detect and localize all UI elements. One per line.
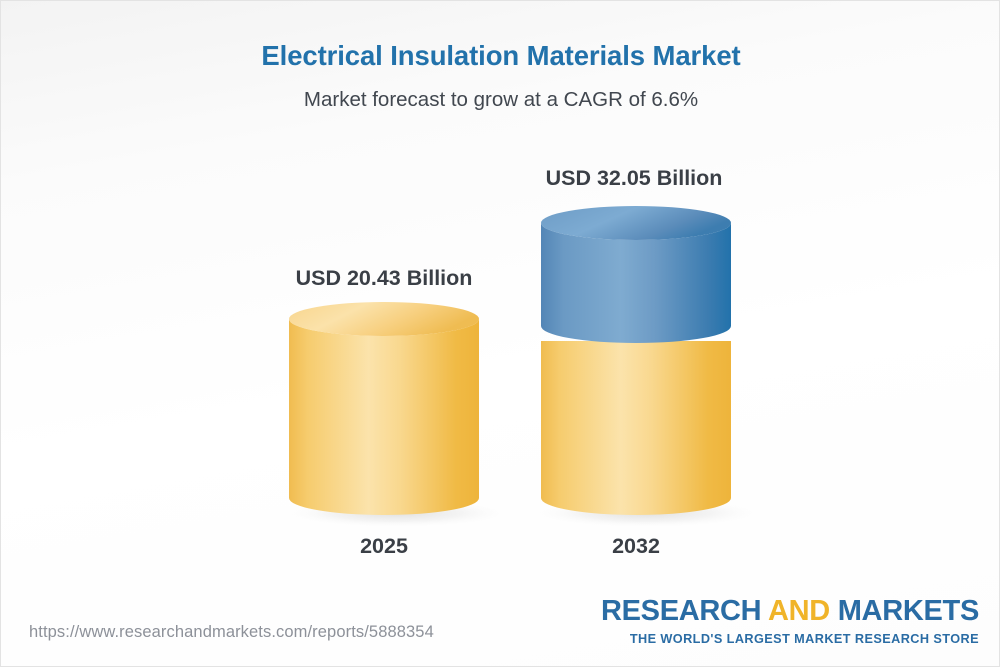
bar-2032[interactable] bbox=[541, 206, 731, 515]
report-url[interactable]: https://www.researchandmarkets.com/repor… bbox=[29, 623, 434, 642]
bar-2032-segment-growth bbox=[541, 223, 731, 343]
logo-tagline: THE WORLD'S LARGEST MARKET RESEARCH STOR… bbox=[601, 633, 979, 646]
bars-svg bbox=[1, 1, 1000, 667]
bar-2032-segment-base bbox=[541, 341, 731, 515]
category-label-2032: 2032 bbox=[476, 534, 796, 559]
logo-wordmark: RESEARCH AND MARKETS bbox=[601, 597, 979, 626]
bar-2025-top-cap bbox=[289, 302, 479, 336]
chart-plot-area: USD 20.43 Billion USD 32.05 Billion bbox=[1, 1, 1000, 667]
chart-canvas: Electrical Insulation Materials Market M… bbox=[0, 0, 1000, 667]
bar-2025[interactable] bbox=[289, 302, 479, 515]
bar-2032-top-cap bbox=[541, 206, 731, 240]
logo-word-research: RESEARCH bbox=[601, 595, 768, 627]
logo-word-and: AND bbox=[768, 595, 838, 627]
bar-2025-body bbox=[289, 319, 479, 515]
logo-word-markets: MARKETS bbox=[838, 595, 979, 627]
research-and-markets-logo[interactable]: RESEARCH AND MARKETS THE WORLD'S LARGEST… bbox=[601, 597, 979, 646]
